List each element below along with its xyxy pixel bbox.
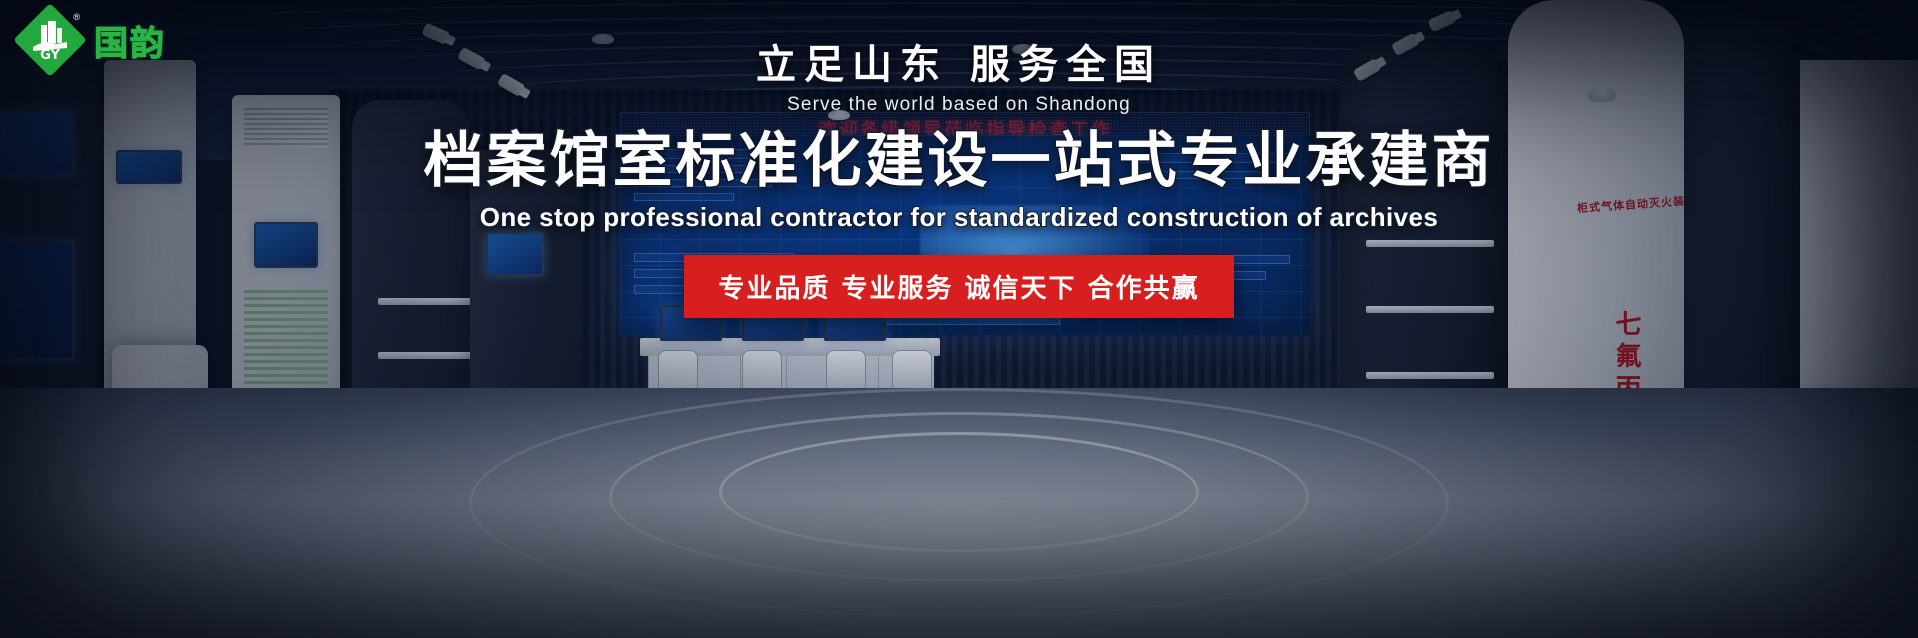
- hero-banner: 欢迎各级领导莅临指导检查工作: [0, 0, 1918, 638]
- hero-text-block: 立足山东 服务全国 Serve the world based on Shand…: [0, 42, 1918, 318]
- hero-headline-en: One stop professional contractor for sta…: [0, 202, 1918, 233]
- hero-eyebrow-cn: 立足山东 服务全国: [0, 42, 1918, 88]
- hero-eyebrow-en: Serve the world based on Shandong: [0, 94, 1918, 116]
- hero-cta-banner[interactable]: 专业品质 专业服务 诚信天下 合作共赢: [684, 255, 1233, 318]
- hero-headline-cn: 档案馆室标准化建设一站式专业承建商: [0, 128, 1918, 194]
- registered-mark: ®: [73, 12, 80, 22]
- banner-overlay: GY ® 国韵 立足山东 服务全国 Serve the world based …: [0, 0, 1918, 638]
